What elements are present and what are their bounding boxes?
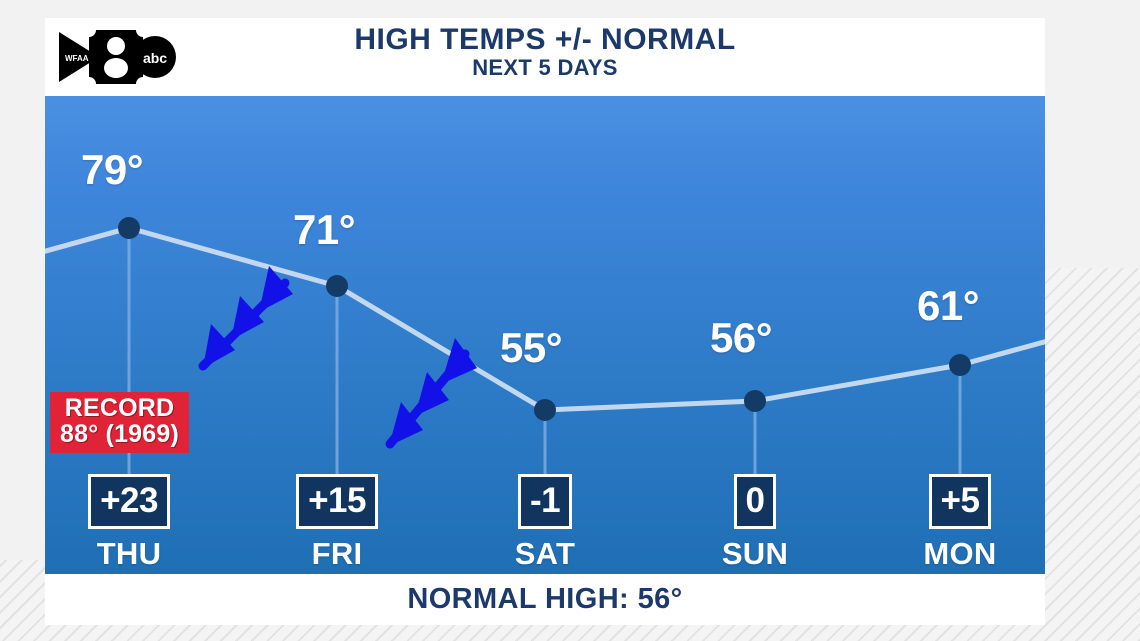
data-point-mon	[949, 354, 971, 376]
temp-label-sat: 55°	[500, 324, 562, 372]
record-badge: RECORD 88° (1969)	[50, 392, 189, 453]
day-label-sun: SUN	[695, 536, 815, 572]
graphic-card: WFAA abc HIGH TEMPS +/- NORMAL NEXT 5 DA…	[45, 18, 1045, 625]
anomaly-box-thu: +23	[88, 474, 170, 529]
cold-front-icon-1	[203, 266, 293, 368]
day-column-sun: 0 SUN	[695, 474, 815, 572]
day-column-sat: -1 SAT	[485, 474, 605, 572]
page-title: HIGH TEMPS +/- NORMAL	[45, 22, 1045, 58]
temp-label-thu: 79°	[81, 146, 143, 194]
record-value: 88° (1969)	[60, 422, 179, 448]
anomaly-box-fri: +15	[296, 474, 378, 529]
graphic-footer: NORMAL HIGH: 56°	[45, 574, 1045, 625]
anomaly-box-sat: -1	[518, 474, 572, 529]
data-point-thu	[118, 217, 140, 239]
anomaly-box-mon: +5	[929, 474, 992, 529]
temp-label-fri: 71°	[293, 206, 355, 254]
temp-label-mon: 61°	[917, 282, 979, 330]
day-label-fri: FRI	[277, 536, 397, 572]
title-block: HIGH TEMPS +/- NORMAL NEXT 5 DAYS	[45, 22, 1045, 81]
data-point-sat	[534, 399, 556, 421]
day-column-thu: +23 THU	[69, 474, 189, 572]
graphic-header: WFAA abc HIGH TEMPS +/- NORMAL NEXT 5 DA…	[45, 18, 1045, 96]
temperature-trend-line	[45, 228, 1045, 410]
record-label: RECORD	[60, 396, 179, 422]
chart-panel: 79° 71° 55° 56° 61° RECORD 88° (1969) +2…	[45, 96, 1045, 574]
page-backdrop: WFAA abc HIGH TEMPS +/- NORMAL NEXT 5 DA…	[0, 0, 1140, 641]
page-subtitle: NEXT 5 DAYS	[45, 55, 1045, 81]
day-column-mon: +5 MON	[900, 474, 1020, 572]
data-point-fri	[326, 275, 348, 297]
anomaly-box-sun: 0	[734, 474, 777, 529]
temp-label-sun: 56°	[710, 314, 772, 362]
day-label-sat: SAT	[485, 536, 605, 572]
data-point-sun	[744, 390, 766, 412]
cold-front-icon-2	[389, 338, 477, 446]
day-label-mon: MON	[900, 536, 1020, 572]
normal-high-text: NORMAL HIGH: 56°	[407, 583, 682, 616]
day-column-fri: +15 FRI	[277, 474, 397, 572]
day-label-thu: THU	[69, 536, 189, 572]
